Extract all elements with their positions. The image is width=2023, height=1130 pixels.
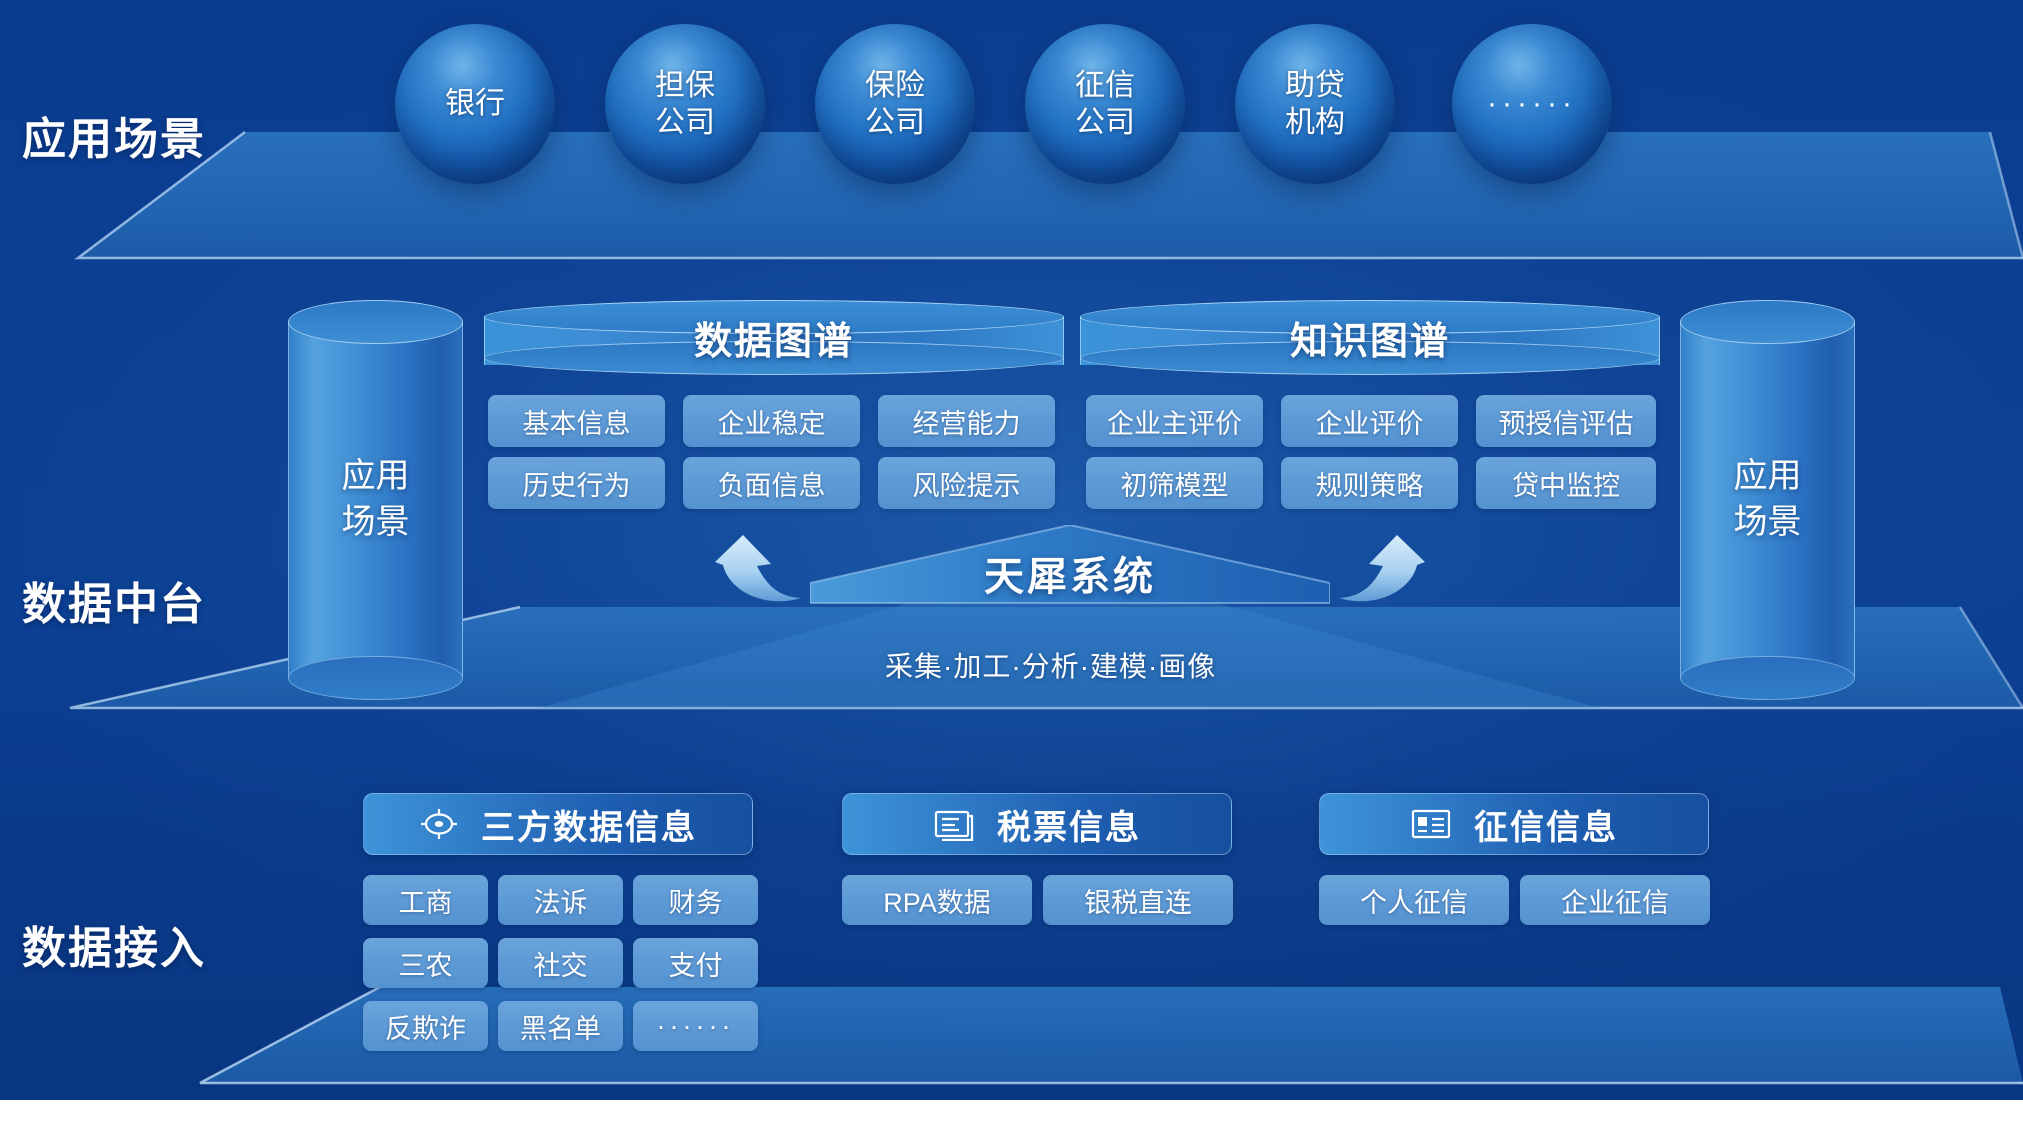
arrow-right-up-icon [1315,525,1435,630]
pill-third-party-item-4[interactable]: 三农 [363,938,488,988]
cylinder-left-application-scenarios: 应用 场景 [288,300,463,700]
banner-subtitle: 采集·加工·分析·建模·画像 [885,645,1216,685]
sphere-guarantee-company[interactable]: 担保 公司 [605,24,765,184]
cylinder-right-application-scenarios: 应用 场景 [1680,300,1855,700]
pill-third-party-item-1[interactable]: 工商 [363,875,488,925]
pill-knowledge-graph-item-2[interactable]: 企业评价 [1281,395,1458,447]
cylinder-label: 应用 场景 [1680,300,1855,700]
pill-data-graph-item-5[interactable]: 负面信息 [683,457,860,509]
architecture-diagram: 应用场景 数据中台 数据接入 银行 担保 公司 保险 公司 征信 公司 助贷 机… [0,0,2023,1130]
pill-knowledge-graph-item-1[interactable]: 企业主评价 [1086,395,1263,447]
sphere-label: 担保 公司 [655,67,715,142]
pill-tax-item-1[interactable]: RPA数据 [842,875,1032,925]
pill-knowledge-graph-item-4[interactable]: 初筛模型 [1086,457,1263,509]
banner-tianxi-system: 天犀系统 [810,525,1330,605]
source-header-tax-invoice[interactable]: 税票信息 [842,793,1232,855]
pill-third-party-item-6[interactable]: 支付 [633,938,758,988]
pill-tax-item-2[interactable]: 银税直连 [1043,875,1233,925]
sphere-insurance-company[interactable]: 保险 公司 [815,24,975,184]
source-header-label: 税票信息 [997,800,1141,849]
pill-third-party-item-2[interactable]: 法诉 [498,875,623,925]
pill-third-party-item-9[interactable]: ······ [633,1001,758,1051]
pill-third-party-item-8[interactable]: 黑名单 [498,1001,623,1051]
pill-knowledge-graph-item-6[interactable]: 贷中监控 [1476,457,1656,509]
sphere-label: 银行 [445,85,505,123]
drum-data-graph: 数据图谱 [484,300,1064,375]
bottom-white-strip [0,1100,2023,1130]
arrow-left-up-icon [705,525,825,630]
sphere-more-ellipsis[interactable]: ······ [1452,24,1612,184]
source-header-label: 征信信息 [1474,800,1618,849]
drum-knowledge-graph: 知识图谱 [1080,300,1660,375]
drum-title: 数据图谱 [484,300,1064,375]
sphere-label: 保险 公司 [865,67,925,142]
pill-credit-item-1[interactable]: 个人征信 [1319,875,1509,925]
pill-knowledge-graph-item-3[interactable]: 预授信评估 [1476,395,1656,447]
id-card-icon [1410,807,1452,841]
target-crosshair-icon [419,807,459,841]
pill-third-party-item-7[interactable]: 反欺诈 [363,1001,488,1051]
pill-data-graph-item-6[interactable]: 风险提示 [878,457,1055,509]
sphere-credit-company[interactable]: 征信 公司 [1025,24,1185,184]
source-header-label: 三方数据信息 [481,800,697,849]
sphere-loan-facilitation[interactable]: 助贷 机构 [1235,24,1395,184]
source-header-third-party-data[interactable]: 三方数据信息 [363,793,753,855]
platform-application-scenarios [0,130,2023,265]
row-label-data-access: 数据接入 [22,912,206,976]
pill-knowledge-graph-item-5[interactable]: 规则策略 [1281,457,1458,509]
invoice-icon [933,807,975,841]
sphere-bank[interactable]: 银行 [395,24,555,184]
drum-title: 知识图谱 [1080,300,1660,375]
source-header-credit-report[interactable]: 征信信息 [1319,793,1709,855]
pill-data-graph-item-1[interactable]: 基本信息 [488,395,665,447]
row-label-application-scenarios: 应用场景 [22,103,206,167]
pill-third-party-item-5[interactable]: 社交 [498,938,623,988]
pill-third-party-item-3[interactable]: 财务 [633,875,758,925]
sphere-label: 助贷 机构 [1285,67,1345,142]
banner-title: 天犀系统 [810,525,1330,605]
platform-data-access [0,985,2023,1090]
sphere-label: 征信 公司 [1075,67,1135,142]
pill-data-graph-item-3[interactable]: 经营能力 [878,395,1055,447]
pill-data-graph-item-2[interactable]: 企业稳定 [683,395,860,447]
cylinder-label: 应用 场景 [288,300,463,700]
pill-data-graph-item-4[interactable]: 历史行为 [488,457,665,509]
sphere-label: ······ [1487,87,1577,121]
row-label-data-middle-office: 数据中台 [22,568,206,632]
pill-credit-item-2[interactable]: 企业征信 [1520,875,1710,925]
